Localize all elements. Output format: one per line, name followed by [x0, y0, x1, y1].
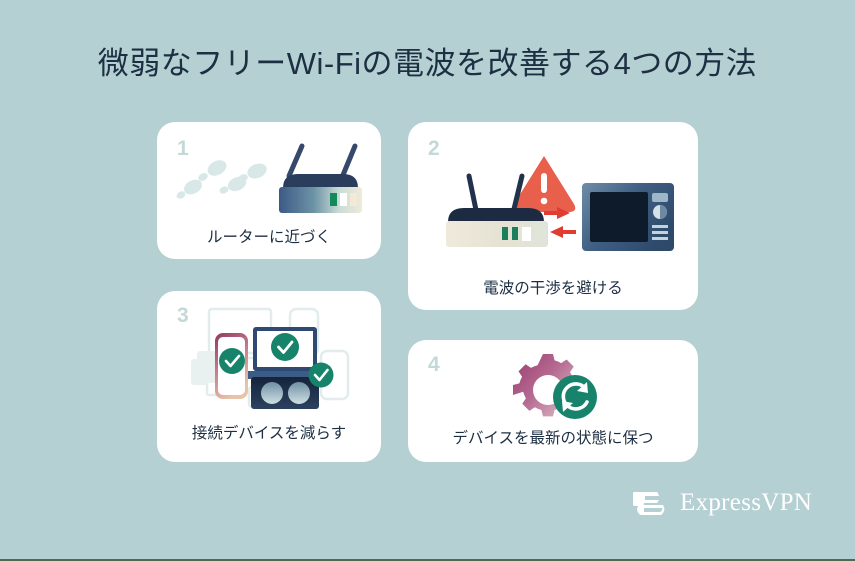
card-step-4[interactable]: 4 デバイスを最新の状態に保つ	[408, 340, 698, 462]
multiple-devices-checkmarks-icon	[187, 303, 359, 413]
card-step-3[interactable]: 3	[157, 291, 381, 462]
expressvpn-e-mark-icon	[633, 487, 667, 519]
card-label-1: ルーターに近づく	[157, 225, 381, 247]
expressvpn-logo[interactable]: ExpressVPN	[633, 487, 812, 519]
card-label-3: 接続デバイスを減らす	[157, 421, 381, 443]
card-number-4: 4	[428, 354, 440, 375]
card-step-2[interactable]: 2	[408, 122, 698, 310]
card-step-1[interactable]: 1	[157, 122, 381, 259]
page-title: 微弱なフリーWi-Fiの電波を改善する4つの方法	[0, 38, 855, 83]
footprints-router-icon	[175, 140, 365, 222]
router-warning-microwave-icon	[436, 146, 676, 266]
gear-refresh-icon	[505, 352, 603, 424]
card-label-4: デバイスを最新の状態に保つ	[408, 426, 698, 448]
card-label-2: 電波の干渉を避ける	[408, 276, 698, 298]
infographic-canvas: 微弱なフリーWi-Fiの電波を改善する4つの方法 1	[0, 0, 855, 561]
brand-name: ExpressVPN	[680, 489, 812, 517]
